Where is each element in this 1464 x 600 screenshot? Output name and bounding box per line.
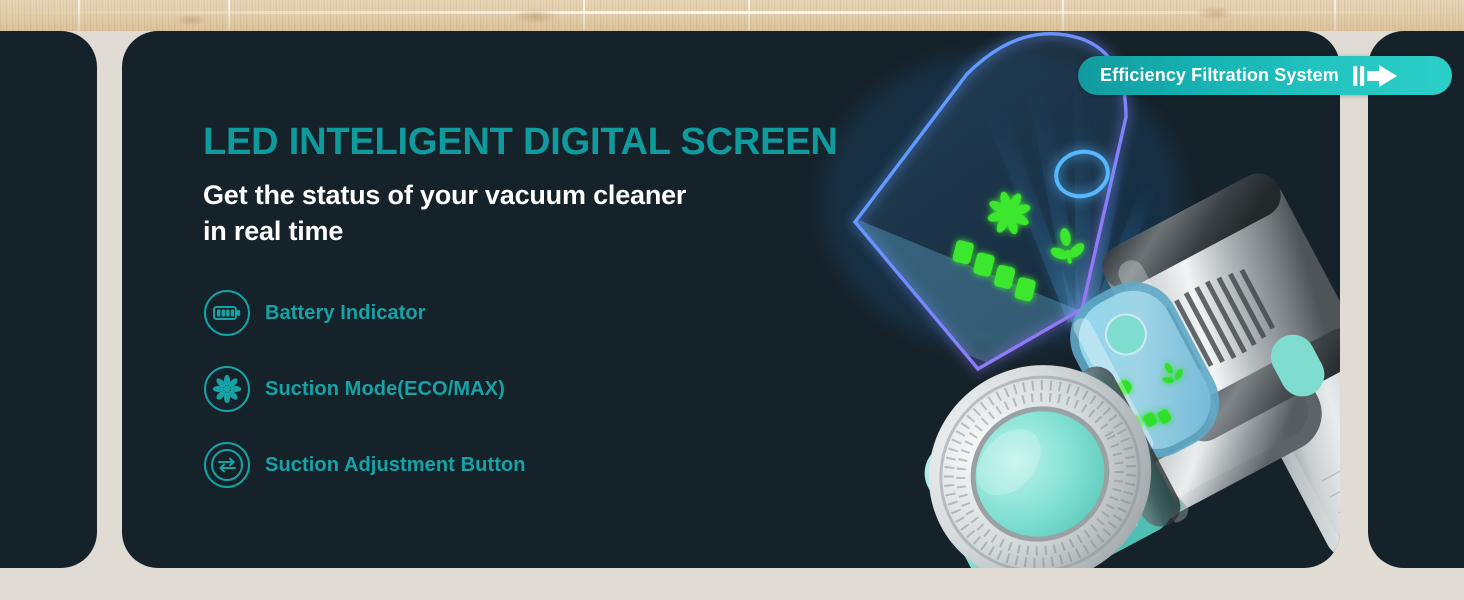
hero-content: LED INTELIGENT DIGITAL SCREEN Get the st… [203,123,838,515]
wood-knot [512,8,558,24]
airflow-arrow-icon [1353,63,1399,89]
plank-seam [1334,0,1336,31]
exchange-arrows-icon [203,441,251,489]
led-screen [1054,266,1236,474]
plank-seam [583,0,585,31]
feature-label: Suction Mode(ECO/MAX) [265,378,505,401]
subtitle-line-2: in real time [203,214,838,250]
cyclone-filter-head [890,326,1189,568]
ring-glyph [1051,146,1112,201]
feature-list: Battery Indicator [203,287,838,491]
plank-seam [228,0,230,31]
efficiency-filtration-badge[interactable]: Efficiency Filtration System [1078,56,1452,95]
wood-knot [1196,6,1234,20]
fan-glyph [982,186,1036,240]
subtitle: Get the status of your vacuum cleaner in… [203,178,838,249]
wood-knot [176,14,206,26]
subtitle-line-1: Get the status of your vacuum cleaner [203,178,838,214]
feature-label: Suction Adjustment Button [265,454,526,477]
propeller-glyph [1045,225,1089,267]
battery-bars-glyph [947,239,1042,302]
badge-label: Efficiency Filtration System [1100,65,1339,86]
page-title: LED INTELIGENT DIGITAL SCREEN [203,123,838,161]
plank-seam [78,0,80,31]
main-feature-panel: LED INTELIGENT DIGITAL SCREEN Get the st… [122,31,1340,568]
plank-seam [1062,0,1064,31]
wood-texture-strip [0,0,1464,31]
left-side-panel [0,31,97,568]
plank-seam [748,0,750,31]
feature-item-suction-adjustment[interactable]: Suction Adjustment Button [203,439,838,491]
fan-icon [203,365,251,413]
right-side-panel [1368,31,1464,568]
vacuum-cleaner [890,166,1340,568]
feature-item-battery-indicator[interactable]: Battery Indicator [203,287,838,339]
feature-label: Battery Indicator [265,302,426,325]
battery-icon [203,289,251,337]
feature-item-suction-mode[interactable]: Suction Mode(ECO/MAX) [203,363,838,415]
